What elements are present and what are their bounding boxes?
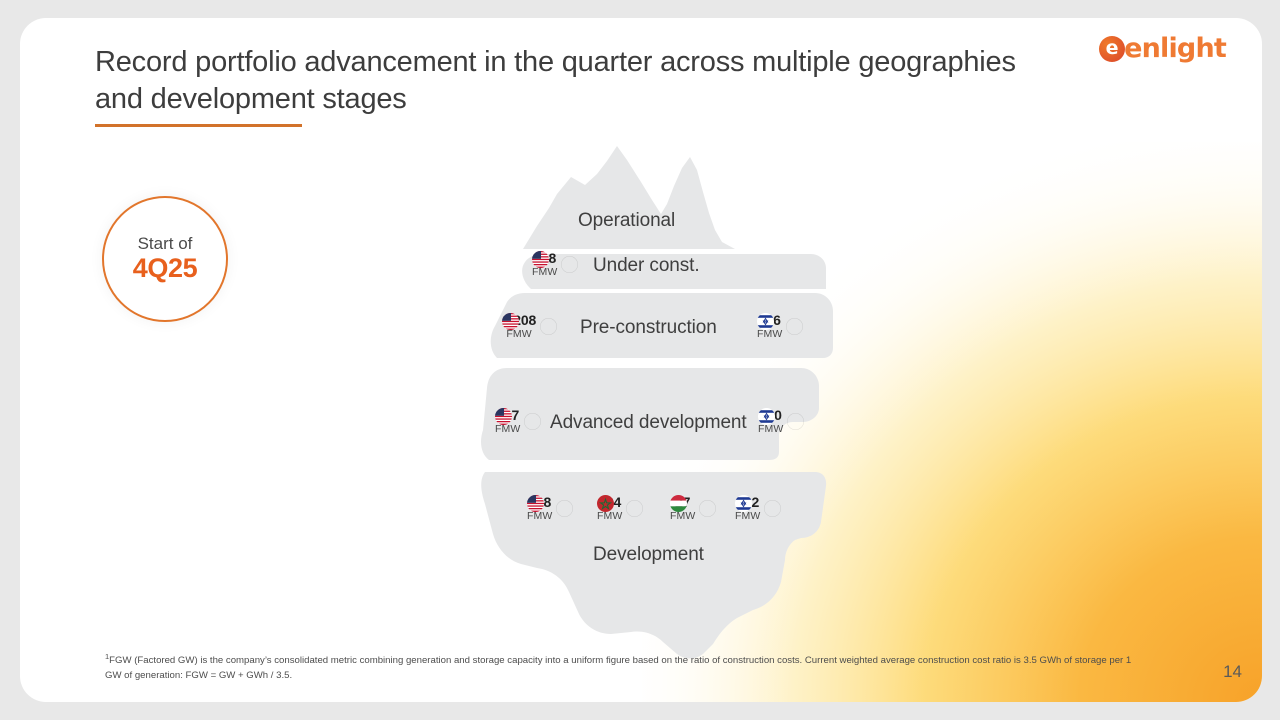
stat-under-construction-us: 808 FMW: [532, 251, 578, 278]
iceberg-label-development: Development: [593, 544, 704, 566]
enlight-logo: e enlight: [1099, 33, 1226, 64]
start-of-quarter-badge: Start of 4Q25: [102, 196, 228, 322]
stat-unit: FMW: [506, 329, 531, 340]
stat-development-us: 368 FMW: [527, 495, 573, 522]
stat-unit: FMW: [757, 329, 782, 340]
us-flag-icon: [540, 318, 557, 335]
page-number: 14: [1223, 662, 1242, 682]
israel-flag-icon: [764, 500, 781, 517]
stat-pre-construction-israel: 116 FMW: [757, 313, 803, 340]
stat-development-hungary: 27 FMW: [670, 495, 716, 522]
stat-development-morocco: 234 FMW: [597, 495, 643, 522]
iceberg-tier-operational: [523, 146, 735, 249]
iceberg-label-operational: Operational: [578, 210, 675, 232]
us-flag-icon: [524, 413, 541, 430]
stat-unit: FMW: [670, 511, 695, 522]
israel-flag-icon: [786, 318, 803, 335]
hungary-flag-icon: [699, 500, 716, 517]
iceberg-label-under-construction: Under const.: [593, 255, 700, 277]
footnote-text: FGW (Factored GW) is the company’s conso…: [105, 655, 1131, 682]
stat-pre-construction-us: 1,208 FMW: [502, 313, 557, 340]
stat-advanced-development-israel: 110 FMW: [758, 408, 804, 435]
enlight-logo-wordmark: enlight: [1124, 33, 1226, 64]
stat-unit: FMW: [735, 511, 760, 522]
slide-canvas: e enlight Record portfolio advancement i…: [20, 18, 1262, 702]
stat-unit: FMW: [527, 511, 552, 522]
us-flag-icon: [561, 256, 578, 273]
badge-line-1: Start of: [138, 234, 193, 254]
page-title: Record portfolio advancement in the quar…: [95, 44, 1055, 118]
iceberg-label-advanced-development: Advanced development: [550, 412, 747, 434]
badge-line-2: 4Q25: [133, 253, 197, 284]
stat-advanced-development-us: 907 FMW: [495, 408, 541, 435]
stat-development-israel: 282 FMW: [735, 495, 781, 522]
footnote: 1FGW (Factored GW) is the company’s cons…: [105, 651, 1145, 684]
enlight-logo-mark-icon: e: [1099, 36, 1125, 62]
stat-unit: FMW: [758, 424, 783, 435]
title-underline-rule: [95, 124, 302, 127]
iceberg-label-pre-construction: Pre-construction: [580, 317, 717, 339]
stat-unit: FMW: [532, 267, 557, 278]
stat-unit: FMW: [495, 424, 520, 435]
morocco-flag-icon: [626, 500, 643, 517]
us-flag-icon: [556, 500, 573, 517]
stat-unit: FMW: [597, 511, 622, 522]
iceberg-diagram: Operational Under const. Pre-constructio…: [445, 120, 845, 660]
israel-flag-icon: [787, 413, 804, 430]
